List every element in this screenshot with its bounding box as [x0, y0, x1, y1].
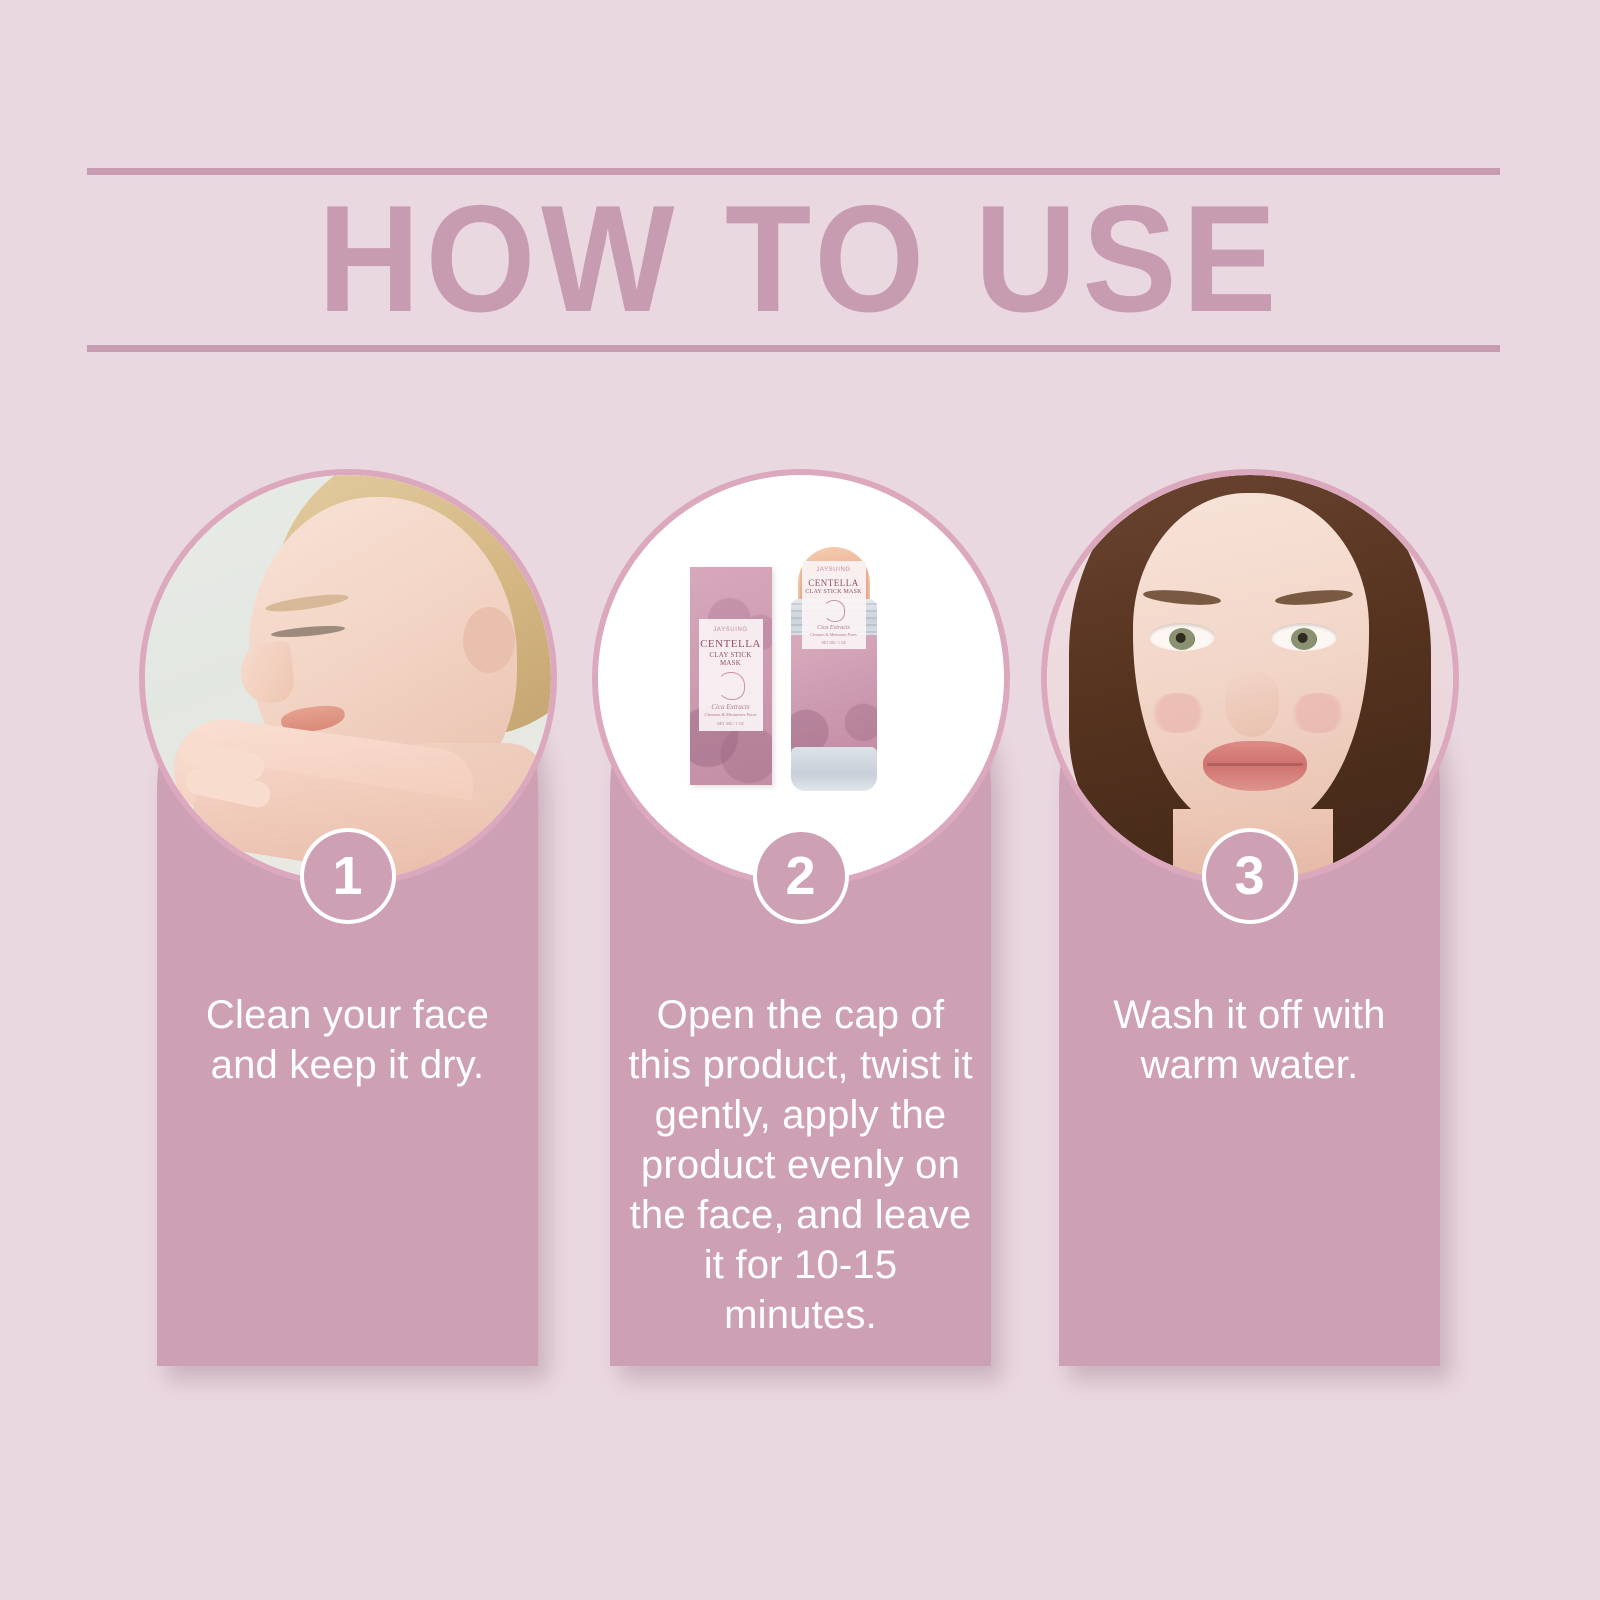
cheek-left-blush — [1147, 693, 1209, 733]
step-card-3[interactable]: 3 Wash it off with warm water. — [1059, 600, 1440, 1366]
infographic-canvas: HOW TO USE — [0, 0, 1600, 1600]
face-line-art-icon — [717, 672, 745, 700]
scene-background — [145, 475, 551, 881]
product-subtitle: CLAY STICK MASK — [699, 651, 763, 667]
brand-name: JAYSUING — [699, 627, 763, 633]
step-media-3 — [1047, 475, 1453, 881]
step-caption: Wash it off with warm water. — [1073, 990, 1426, 1090]
product-packshot-photo: JAYSUING CENTELLA CLAY STICK MASK Cica E… — [598, 475, 1004, 881]
iris-shape — [1291, 628, 1317, 650]
step-number-badge: 3 — [1202, 828, 1298, 924]
product-name: CENTELLA — [802, 578, 866, 588]
ear-shape — [463, 607, 515, 673]
brand-name: JAYSUING — [802, 567, 866, 573]
stick-label: JAYSUING CENTELLA CLAY STICK MASK Cica E… — [802, 561, 866, 649]
step-card-panel: 1 Clean your face and keep it dry. — [157, 600, 538, 1366]
step-card-2[interactable]: JAYSUING CENTELLA CLAY STICK MASK Cica E… — [610, 600, 991, 1366]
step-caption: Clean your face and keep it dry. — [171, 990, 524, 1090]
scene-background: JAYSUING CENTELLA CLAY STICK MASK Cica E… — [598, 475, 1004, 881]
product-benefit: Cleanses & Minimizes Pores — [699, 712, 763, 717]
step-media-2: JAYSUING CENTELLA CLAY STICK MASK Cica E… — [598, 475, 1004, 881]
product-stick: JAYSUING CENTELLA CLAY STICK MASK Cica E… — [788, 547, 880, 795]
product-subtitle: CLAY STICK MASK — [802, 589, 866, 595]
product-net-weight: NET 30G / 1 OZ — [699, 721, 763, 726]
product-ingredient: Cica Extracts — [802, 625, 866, 631]
step-card-1[interactable]: 1 Clean your face and keep it dry. — [157, 600, 538, 1366]
step-card-panel: 3 Wash it off with warm water. — [1059, 600, 1440, 1366]
cheek-right-blush — [1287, 693, 1349, 733]
product-net-weight: NET 30G / 1 OZ — [802, 641, 866, 645]
step-caption: Open the cap of this product, twist it g… — [624, 990, 977, 1340]
step-card-panel: JAYSUING CENTELLA CLAY STICK MASK Cica E… — [610, 600, 991, 1366]
nose-shape — [1225, 671, 1279, 737]
lips-shape — [1203, 741, 1307, 791]
iris-shape — [1169, 628, 1195, 650]
stick-base — [791, 747, 877, 791]
steps-row: 1 Clean your face and keep it dry. JAYSU… — [0, 0, 1600, 1600]
eye-right-shape — [1271, 623, 1337, 651]
woman-clear-skin-portrait-photo — [1047, 475, 1453, 881]
face-line-art-icon — [823, 600, 845, 622]
product-carton: JAYSUING CENTELLA CLAY STICK MASK Cica E… — [690, 567, 772, 785]
step-number-badge: 1 — [300, 828, 396, 924]
stick-body — [791, 635, 877, 753]
scene-background — [1047, 475, 1453, 881]
step-media-1 — [145, 475, 551, 881]
carton-label: JAYSUING CENTELLA CLAY STICK MASK Cica E… — [699, 619, 763, 731]
product-ingredient: Cica Extracts — [699, 703, 763, 711]
product-benefit: Cleanses & Minimizes Pores — [802, 632, 866, 637]
stick-landscape-art — [791, 635, 877, 753]
nose-shape — [238, 640, 296, 705]
product-name: CENTELLA — [699, 638, 763, 650]
eye-left-shape — [1149, 623, 1215, 651]
woman-washing-face-photo — [145, 475, 551, 881]
step-number-badge: 2 — [753, 828, 849, 924]
